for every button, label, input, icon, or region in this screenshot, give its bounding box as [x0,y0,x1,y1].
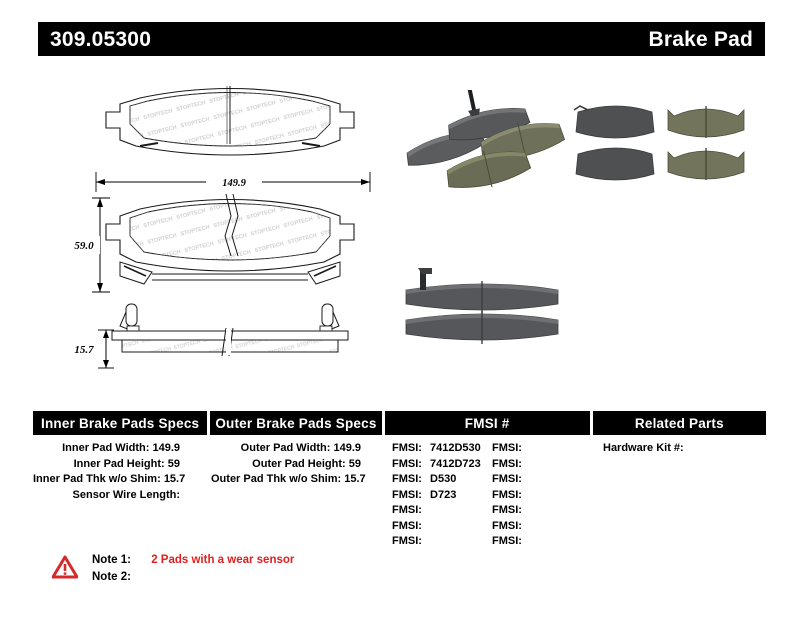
header-bar: 309.05300 Brake Pad [38,22,765,56]
fmsi-row: FMSI: [492,503,592,519]
fmsi-row: FMSI: 7412D530 [392,441,492,457]
note-row-1: Note 1: 2 Pads with a wear sensor [92,552,294,569]
fmsi-value [522,520,527,532]
fmsi-row: FMSI: [492,441,592,457]
product-photos-panel [0,62,800,392]
fmsi-value [522,442,527,454]
header-fmsi-number: FMSI # [385,411,590,435]
fmsi-value: 7412D723 [425,458,481,470]
fmsi-value [422,520,427,532]
warning-triangle-icon [52,555,78,579]
fmsi-value [522,504,527,516]
part-number: 309.05300 [50,29,151,50]
header-related-parts: Related Parts [593,411,766,435]
fmsi-value [522,535,527,547]
outer-pad-height-value: 59 [349,458,361,470]
fmsi-row: FMSI: [392,503,492,519]
hardware-kit-label: Hardware Kit #: [603,442,684,454]
outer-pad-thk-value: 15.7 [344,473,365,485]
fmsi-cell: FMSI: 7412D530 FMSI: 7412D723 FMSI: D530… [386,441,592,550]
fmsi-value [422,504,427,516]
note-1-value: 2 Pads with a wear sensor [145,554,294,566]
inner-pad-thk-label: Inner Pad Thk w/o Shim: [33,473,161,485]
fmsi-value [522,458,527,470]
inner-pad-width-value: 149.9 [152,442,180,454]
fmsi-label: FMSI: [492,489,522,501]
spec-row: Outer Pad Width: 149.9 [211,441,361,457]
fmsi-row: FMSI: D530 [392,472,492,488]
sensor-wire-length-label: Sensor Wire Length: [73,489,180,501]
product-type-title: Brake Pad [648,29,753,50]
fmsi-row: FMSI: [492,519,592,535]
outer-specs-cell: Outer Pad Width: 149.9 Outer Pad Height:… [211,441,383,550]
inner-pad-height-label: Inner Pad Height: [74,458,165,470]
inner-pad-height-value: 59 [168,458,180,470]
related-parts-cell: Hardware Kit #: [595,441,766,550]
note-2-label: Note 2: [92,569,142,586]
spec-row: Inner Pad Height: 59 [33,457,180,473]
fmsi-value: 7412D530 [425,442,481,454]
spec-row: Sensor Wire Length: [33,488,180,504]
outer-pad-width-label: Outer Pad Width: [241,442,331,454]
fmsi-row: FMSI: [492,488,592,504]
fmsi-label: FMSI: [392,520,422,532]
angled-pad-set-photo [398,90,568,195]
fmsi-row: FMSI: [492,472,592,488]
inner-pad-width-label: Inner Pad Width: [62,442,149,454]
fmsi-label: FMSI: [492,535,522,547]
spec-row: Outer Pad Thk w/o Shim: 15.7 [211,472,361,488]
fmsi-value: D530 [425,473,456,485]
inner-specs-cell: Inner Pad Width: 149.9 Inner Pad Height:… [33,441,208,550]
fmsi-label: FMSI: [392,535,422,547]
table-header-row: Inner Brake Pads Specs Outer Brake Pads … [33,411,766,435]
fmsi-label: FMSI: [392,504,422,516]
fmsi-left-column: FMSI: 7412D530 FMSI: 7412D723 FMSI: D530… [392,441,492,550]
fmsi-label: FMSI: [492,458,522,470]
fmsi-value [522,489,527,501]
spec-row: Inner Pad Width: 149.9 [33,441,180,457]
fmsi-right-column: FMSI: FMSI: FMSI: FMSI: [492,441,592,550]
fmsi-label: FMSI: [392,473,422,485]
header-inner-brake-pads-specs: Inner Brake Pads Specs [33,411,207,435]
outer-pad-width-value: 149.9 [333,442,361,454]
fmsi-row: FMSI: 7412D723 [392,457,492,473]
fmsi-value [422,535,427,547]
notes-section: Note 1: 2 Pads with a wear sensor Note 2… [52,552,294,586]
fmsi-label: FMSI: [492,520,522,532]
outer-pad-height-label: Outer Pad Height: [252,458,346,470]
edge-profile-pad-photo [392,258,572,348]
specifications-table: Inner Brake Pads Specs Outer Brake Pads … [33,411,766,536]
related-part-row: Hardware Kit #: [603,441,766,457]
inner-pad-thk-value: 15.7 [164,473,185,485]
fmsi-label: FMSI: [492,473,522,485]
header-outer-brake-pads-specs: Outer Brake Pads Specs [210,411,381,435]
table-body: Inner Pad Width: 149.9 Inner Pad Height:… [33,435,766,550]
fmsi-value: D723 [425,489,456,501]
fmsi-row: FMSI: D723 [392,488,492,504]
fmsi-row: FMSI: [492,457,592,473]
note-row-2: Note 2: [92,569,294,586]
note-2-value [142,571,148,583]
fmsi-label: FMSI: [392,489,422,501]
fmsi-row: FMSI: [392,519,492,535]
fmsi-value [522,473,527,485]
outer-pad-thk-label: Outer Pad Thk w/o Shim: [211,473,341,485]
fmsi-label: FMSI: [492,504,522,516]
note-1-label: Note 1: [92,552,142,569]
fmsi-row: FMSI: [392,534,492,550]
fmsi-label: FMSI: [392,442,422,454]
fmsi-label: FMSI: [492,442,522,454]
flat-pad-set-photo [566,94,751,194]
spec-row: Outer Pad Height: 59 [211,457,361,473]
fmsi-row: FMSI: [492,534,592,550]
fmsi-label: FMSI: [392,458,422,470]
spec-row: Inner Pad Thk w/o Shim: 15.7 [33,472,180,488]
